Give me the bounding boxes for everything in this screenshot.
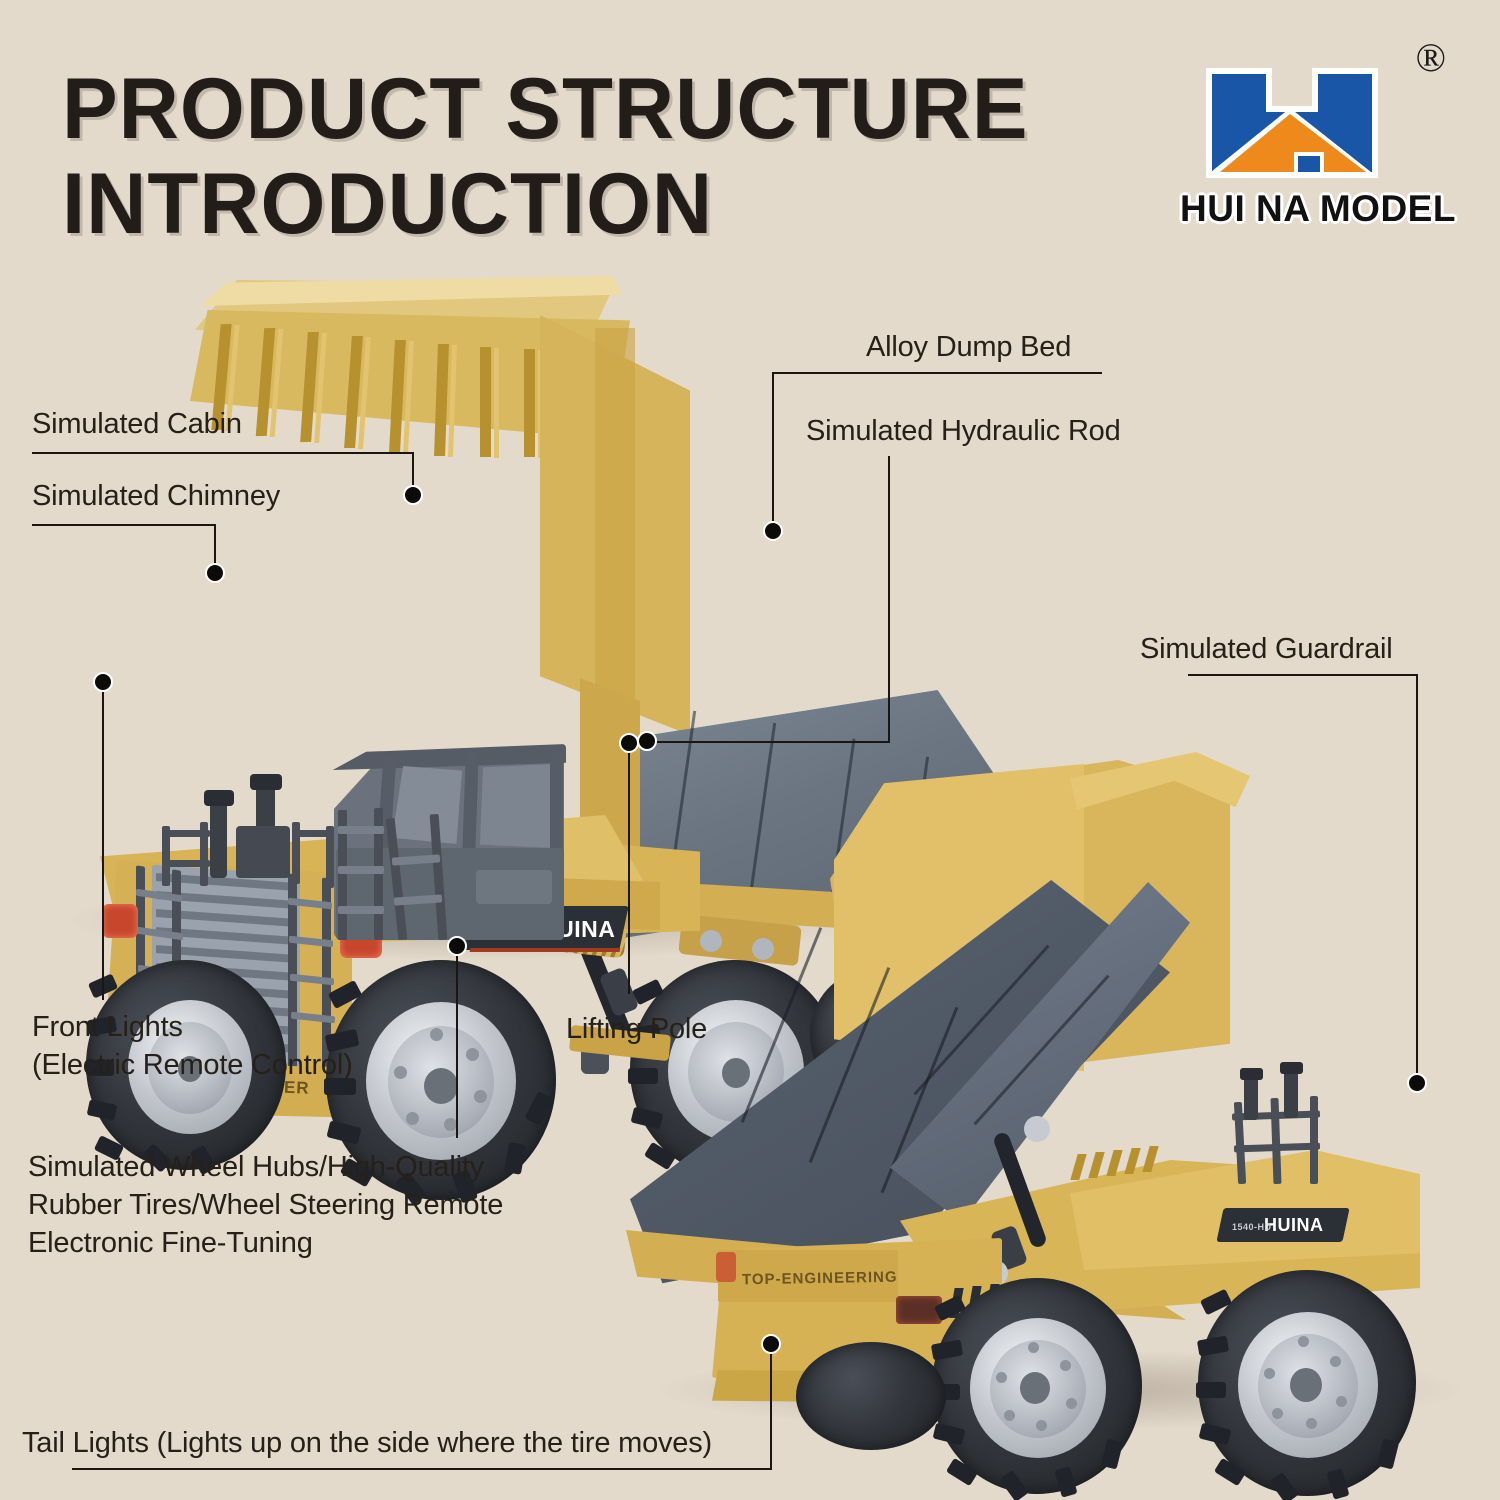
- registered-trademark-icon: ®: [1416, 38, 1446, 78]
- leader-line-hydraulic-h: [646, 741, 890, 743]
- leader-dot-hydraulic: [637, 731, 657, 751]
- leader-dot-guardrail: [1407, 1073, 1427, 1093]
- leader-line-taillights-h: [72, 1468, 772, 1470]
- leader-dot-frontlights: [93, 672, 113, 692]
- callout-tail-lights: Tail Lights (Lights up on the side where…: [22, 1424, 712, 1462]
- callout-wheel-hubs-line3: Electronic Fine-Tuning: [28, 1224, 313, 1262]
- title-line-2: INTRODUCTION: [62, 157, 1148, 252]
- leader-dot-chimney: [205, 563, 225, 583]
- leader-line-wheelhubs-v: [456, 952, 458, 1138]
- leader-line-taillights-v: [770, 1350, 772, 1468]
- leader-dot-cabin: [403, 485, 423, 505]
- huina-h-mountain-logo-icon: [1204, 64, 1380, 182]
- callout-lifting-pole: Lifting Pole: [566, 1010, 707, 1048]
- leader-line-dumpbed-v: [772, 372, 774, 528]
- leader-line-dumpbed-h: [772, 372, 1102, 374]
- callout-simulated-cabin: Simulated Cabin: [32, 405, 242, 443]
- page-title: PRODUCT STRUCTURE INTRODUCTION: [62, 62, 1182, 252]
- brand-plate-subtext-b: 1540-HD: [1232, 1222, 1272, 1232]
- callout-front-lights-line2: (Electric Remote Control): [32, 1046, 353, 1084]
- infographic-page: PRODUCT STRUCTURE INTRODUCTION ® HUI NA …: [0, 0, 1500, 1500]
- product-image-truck-dumping: HUINA 1540-HD TOP-ENGINEERING: [600, 730, 1500, 1440]
- rear-text: TOP-ENGINEERING: [742, 1269, 898, 1289]
- callout-simulated-chimney: Simulated Chimney: [32, 477, 280, 515]
- leader-dot-taillights: [761, 1334, 781, 1354]
- callout-simulated-hydraulic-rod: Simulated Hydraulic Rod: [806, 412, 1121, 450]
- leader-line-guardrail-v: [1416, 674, 1418, 1080]
- leader-line-hydraulic-v: [888, 456, 890, 742]
- front-lamp-left: [102, 904, 138, 938]
- leader-dot-wheelhubs: [447, 936, 467, 956]
- leader-line-liftingpole-v: [628, 742, 630, 994]
- brand-plate-text-b: HUINA: [1264, 1215, 1324, 1236]
- callout-simulated-guardrail: Simulated Guardrail: [1140, 630, 1393, 668]
- brand-logo: ® HUI NA MODEL: [1180, 38, 1450, 233]
- logo-wordmark: HUI NA MODEL: [1180, 188, 1450, 230]
- leader-line-chimney-h: [32, 524, 216, 526]
- leader-line-frontlights-v: [102, 690, 104, 1000]
- callout-front-lights-line1: Front Lights: [32, 1008, 183, 1046]
- leader-dot-liftingpole: [619, 733, 639, 753]
- leader-line-cabin-h: [32, 452, 414, 454]
- callout-wheel-hubs-line2: Rubber Tires/Wheel Steering Remote: [28, 1186, 503, 1224]
- leader-line-guardrail-h: [1188, 674, 1418, 676]
- title-line-1: PRODUCT STRUCTURE: [62, 62, 1148, 157]
- callout-wheel-hubs-line1: Simulated Wheel Hubs/High-Quality: [28, 1148, 484, 1186]
- leader-dot-dumpbed: [763, 521, 783, 541]
- wheel-b-rear: [932, 1278, 1142, 1494]
- wheel-b-front: [1198, 1270, 1416, 1496]
- callout-alloy-dump-bed: Alloy Dump Bed: [866, 328, 1071, 366]
